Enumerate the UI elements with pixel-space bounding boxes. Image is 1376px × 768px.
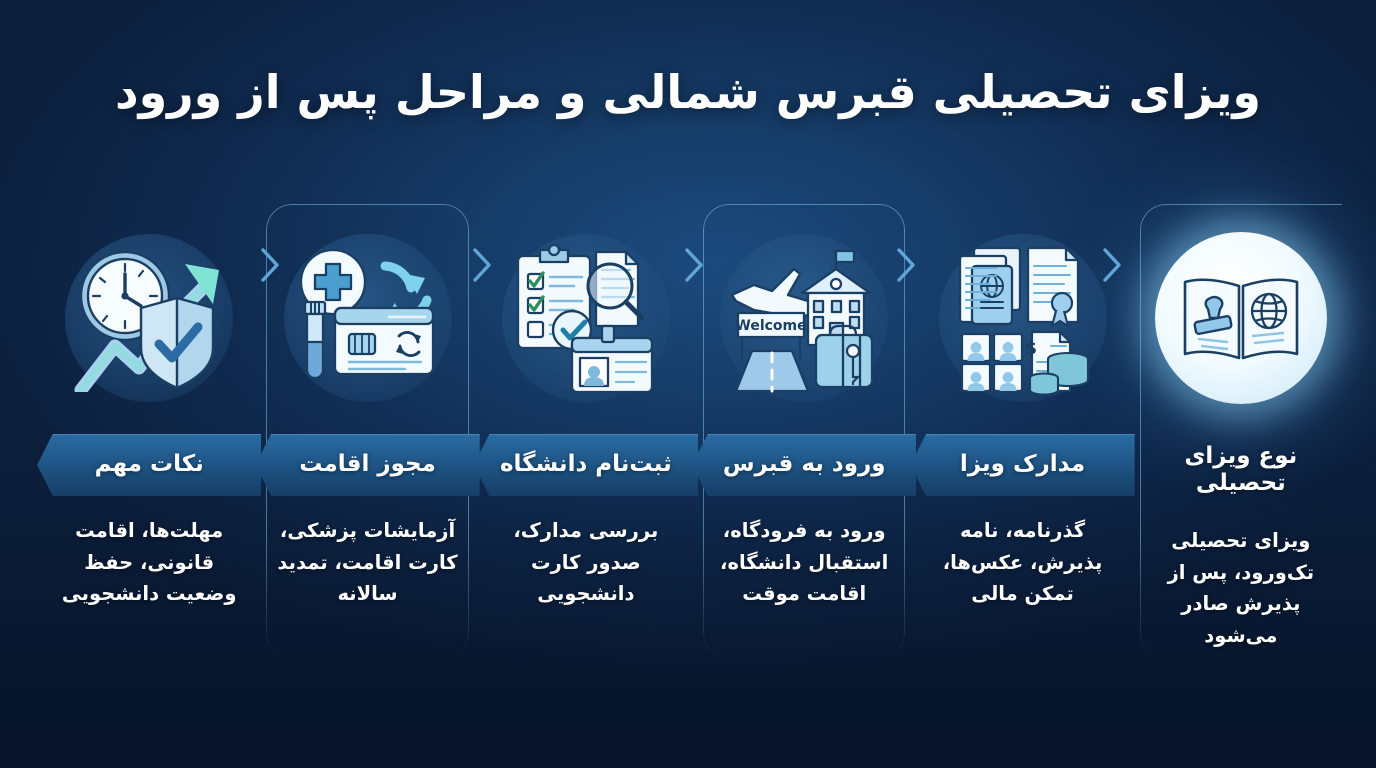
- svg-text:$: $: [1024, 338, 1037, 359]
- step-card-1[interactable]: نوع ویزای تحصیلی ویزای تحصیلی تک‌ورود، پ…: [1132, 196, 1350, 666]
- step-banner-6: نکات مهم: [37, 434, 261, 496]
- step-banner-4: ثبت‌نام دانشگاه: [474, 434, 698, 496]
- step-card-6[interactable]: نکات مهم مهلت‌ها، اقامت قانونی، حفظ وضعی…: [40, 196, 258, 666]
- step-card-4[interactable]: ثبت‌نام دانشگاه بررسی مدارک، صدور کارت د…: [477, 196, 695, 666]
- visa-documents-icon: $: [952, 242, 1094, 394]
- step-description-2: گذرنامه، نامه پذیرش، عکس‌ها، تمکن مالی: [929, 515, 1117, 610]
- step-title-6: نکات مهم: [81, 451, 218, 478]
- infographic-canvas: ویزای تحصیلی قبرس شمالی و مراحل پس از ور…: [0, 0, 1376, 768]
- step-icon-area-5: [258, 212, 476, 424]
- svg-text:Welcome: Welcome: [736, 318, 807, 334]
- step-icon-area-3: Welcome: [695, 212, 913, 424]
- important-notes-icon: [73, 244, 225, 392]
- step-description-5: آزمایشات پزشکی، کارت اقامت، تمدید سالانه: [274, 515, 462, 610]
- step-card-5[interactable]: مجوز اقامت آزمایشات پزشکی، کارت اقامت، ت…: [258, 196, 476, 666]
- step-icon-area-1: [1132, 212, 1350, 424]
- step-description-1: ویزای تحصیلی تک‌ورود، پس از پذیرش صادر م…: [1147, 525, 1335, 651]
- step-description-6: مهلت‌ها، اقامت قانونی، حفظ وضعیت دانشجوی…: [55, 515, 243, 610]
- steps-row: نوع ویزای تحصیلی ویزای تحصیلی تک‌ورود، پ…: [40, 196, 1350, 666]
- step-banner-5: مجوز اقامت: [255, 434, 479, 496]
- arrival-cyprus-icon: Welcome: [726, 243, 882, 393]
- step-title-2: مدارک ویزا: [946, 451, 1099, 478]
- step-card-2[interactable]: $: [913, 196, 1131, 666]
- residence-permit-icon: [293, 246, 443, 390]
- page-title: ویزای تحصیلی قبرس شمالی و مراحل پس از ور…: [0, 62, 1376, 123]
- passport-stamp-icon: [1177, 266, 1305, 370]
- step-description-4: بررسی مدارک، صدور کارت دانشجویی: [492, 515, 680, 610]
- step-icon-area-4: [477, 212, 695, 424]
- step-icon-area-2: $: [913, 212, 1131, 424]
- step-title-1: نوع ویزای تحصیلی: [1129, 443, 1353, 497]
- step-title-4: ثبت‌نام دانشگاه: [486, 451, 686, 478]
- step-title-3: ورود به قبرس: [709, 451, 900, 478]
- step-title-5: مجوز اقامت: [285, 451, 450, 478]
- step-banner-3: ورود به قبرس: [692, 434, 916, 496]
- step-banner-2: مدارک ویزا: [910, 434, 1134, 496]
- step-card-3[interactable]: Welcome: [695, 196, 913, 666]
- university-registration-icon: [510, 242, 662, 394]
- step-icon-area-6: [40, 212, 258, 424]
- step-description-3: ورود به فرودگاه، استقبال دانشگاه، اقامت …: [710, 515, 898, 610]
- step-banner-1: نوع ویزای تحصیلی: [1129, 434, 1353, 506]
